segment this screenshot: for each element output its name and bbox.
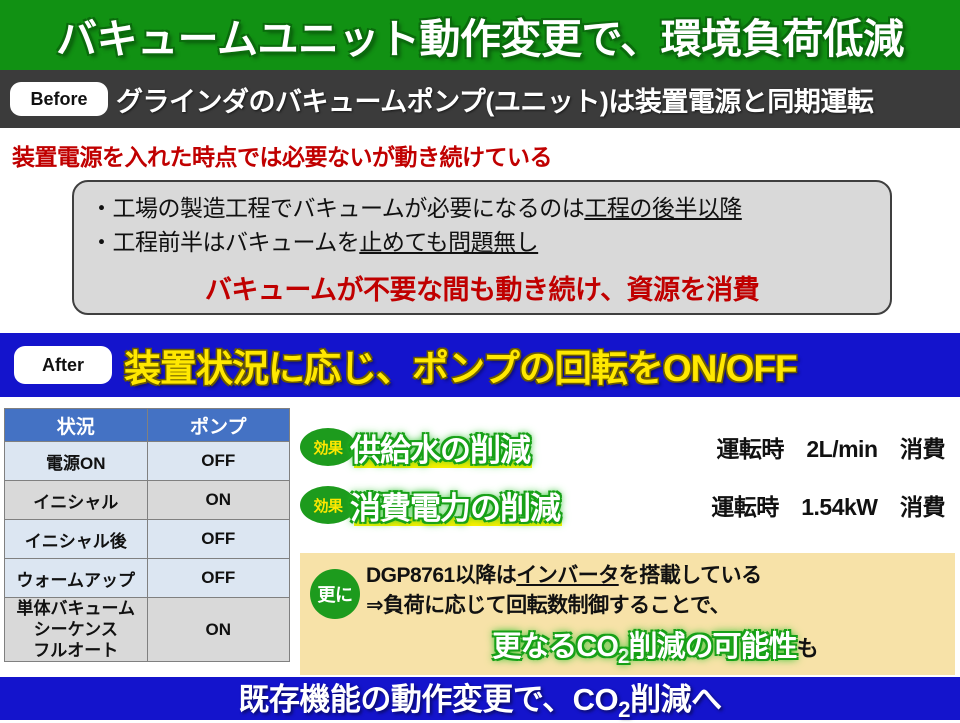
table-row: イニシャル ON [5, 481, 290, 520]
cell-situation: ウォームアップ [5, 559, 148, 598]
effect-title-wrap: 消費電力の削減 [350, 483, 560, 528]
note-line-2: ⇒負荷に応じて回転数制御することで、 [366, 591, 945, 621]
slide-title-bar: バキュームユニット動作変更で、環境負荷低減 [0, 0, 960, 70]
table-row: 単体バキュームシーケンスフルオート ON [5, 598, 290, 662]
bullet-2-underlined: 止めても問題無し [359, 230, 538, 255]
note-emphasis-text: 更なるCO [492, 631, 618, 663]
cell-situation: 電源ON [5, 442, 148, 481]
cell-pump: ON [147, 598, 290, 662]
note-emphasis: 更なるCO2削減の可能性も [366, 623, 945, 669]
cell-pump: ON [147, 481, 290, 520]
note-emphasis-main: 更なるCO2削減の可能性 [492, 631, 796, 663]
after-band: After 装置状況に応じ、ポンプの回転をON/OFF [0, 333, 960, 397]
note-line-1-suffix: を搭載している [619, 564, 762, 587]
slide-footer: 既存機能の動作変更で、CO2削減へ [0, 677, 960, 720]
effect-row: 効果 消費電力の削減 運転時 1.54kW 消費 [300, 476, 955, 534]
before-bullet-1: ・工場の製造工程でバキュームが必要になるのは工程の後半以降 [90, 192, 874, 226]
effect-badge: 効果 [300, 428, 356, 466]
effect-metric: 運転時 2L/min 消費 [716, 430, 955, 464]
before-lead-text: 装置電源を入れた時点では必要ないが動き続けている [12, 138, 552, 172]
bullet-2-prefix: ・工程前半はバキュームを [90, 230, 359, 255]
effect-metric: 運転時 1.54kW 消費 [711, 488, 955, 522]
effect-row: 効果 供給水の削減 運転時 2L/min 消費 [300, 418, 955, 476]
slide-root: バキュームユニット動作変更で、環境負荷低減 Before グラインダのバキューム… [0, 0, 960, 720]
note-line-1: DGP8761以降はインバータを搭載している [366, 561, 945, 591]
note-line-1-prefix: DGP8761以降は [366, 564, 516, 587]
cell-situation: イニシャル後 [5, 520, 148, 559]
bullet-1-underlined: 工程の後半以降 [584, 196, 742, 221]
note-line-1-underlined: インバータ [516, 564, 619, 587]
cell-pump: OFF [147, 442, 290, 481]
effect-badge: 効果 [300, 486, 356, 524]
before-badge: Before [10, 82, 108, 116]
cell-pump: OFF [147, 559, 290, 598]
cell-pump: OFF [147, 520, 290, 559]
table-header-row: 状況 ポンプ [5, 409, 290, 442]
after-badge: After [14, 346, 112, 384]
note-lines: DGP8761以降はインバータを搭載している ⇒負荷に応じて回転数制御することで… [366, 561, 945, 667]
note-emphasis-tail: も [797, 636, 819, 661]
status-pump-table: 状況 ポンプ 電源ON OFF イニシャル ON イニシャル後 OFF ウォーム… [4, 408, 290, 662]
table-row: イニシャル後 OFF [5, 520, 290, 559]
slide-title: バキュームユニット動作変更で、環境負荷低減 [56, 5, 904, 65]
table-header-pump: ポンプ [147, 409, 290, 442]
footer-subscript: 2 [618, 697, 630, 722]
before-emphasis: バキュームが不要な間も動き続け、資源を消費 [90, 268, 874, 307]
cell-situation: 単体バキュームシーケンスフルオート [5, 598, 148, 662]
effect-title: 供給水の削減 [350, 433, 530, 468]
before-band: Before グラインダのバキュームポンプ(ユニット)は装置電源と同期運転 [0, 70, 960, 128]
footer-suffix: 削減へ [630, 682, 722, 717]
note-badge: 更に [310, 569, 360, 619]
effects-list: 効果 供給水の削減 運転時 2L/min 消費 効果 消費電力の削減 運転時 1… [300, 418, 955, 534]
bullet-1-prefix: ・工場の製造工程でバキュームが必要になるのは [90, 196, 584, 221]
note-emphasis-rest: 削減の可能性 [629, 631, 797, 663]
cell-situation: イニシャル [5, 481, 148, 520]
table-header-situation: 状況 [5, 409, 148, 442]
before-bullet-2: ・工程前半はバキュームを止めても問題無し [90, 226, 874, 260]
before-detail-box: ・工場の製造工程でバキュームが必要になるのは工程の後半以降 ・工程前半はバキュー… [72, 180, 892, 315]
additional-note-box: 更に DGP8761以降はインバータを搭載している ⇒負荷に応じて回転数制御する… [300, 553, 955, 675]
before-band-text: グラインダのバキュームポンプ(ユニット)は装置電源と同期運転 [116, 80, 873, 119]
table-row: ウォームアップ OFF [5, 559, 290, 598]
effect-title-wrap: 供給水の削減 [350, 425, 530, 470]
footer-text: 既存機能の動作変更で、CO2削減へ [238, 674, 721, 723]
table-row: 電源ON OFF [5, 442, 290, 481]
note-emphasis-subscript: 2 [618, 645, 629, 668]
footer-prefix: 既存機能の動作変更で、CO [238, 682, 618, 717]
after-band-text: 装置状況に応じ、ポンプの回転をON/OFF [124, 338, 797, 392]
effect-title: 消費電力の削減 [350, 491, 560, 526]
